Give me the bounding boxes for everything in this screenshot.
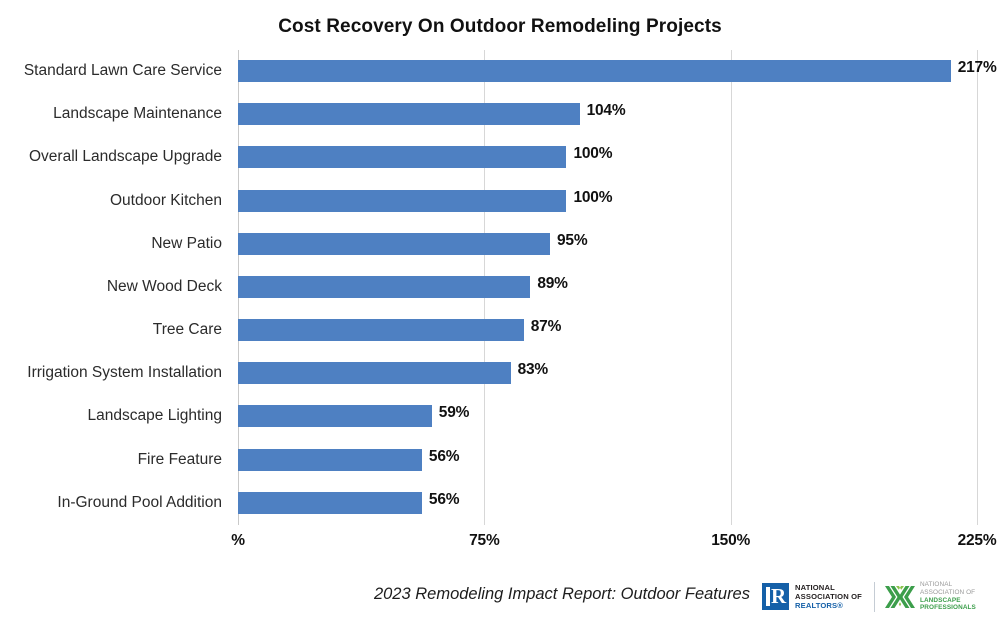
bar-value-label: 100% <box>573 145 612 163</box>
category-label: In-Ground Pool Addition <box>57 482 222 525</box>
x-tick-label: 75% <box>469 532 499 550</box>
nar-line-2: ASSOCIATION OF <box>795 592 862 601</box>
national-association-of-realtors-logo: R NATIONAL ASSOCIATION OF REALTORS® <box>762 583 862 611</box>
chart-title: Cost Recovery On Outdoor Remodeling Proj… <box>0 16 1000 38</box>
nalp-line-3: LANDSCAPE <box>920 597 976 605</box>
bar-value-label: 89% <box>537 275 567 293</box>
national-association-of-landscape-professionals-logo: NATIONAL ASSOCIATION OF LANDSCAPE PROFES… <box>885 581 976 612</box>
x-tick-label: 150% <box>711 532 750 550</box>
nalp-line-2: ASSOCIATION OF <box>920 589 976 597</box>
bar-row: 59% <box>238 395 977 438</box>
bar-value-label: 56% <box>429 448 459 466</box>
category-label: Fire Feature <box>138 439 222 482</box>
bar-value-label: 59% <box>439 404 469 422</box>
bar[interactable] <box>238 190 566 212</box>
bar[interactable] <box>238 233 550 255</box>
category-label: Landscape Maintenance <box>53 93 222 136</box>
bar-value-label: 95% <box>557 232 587 250</box>
nalp-line-1: NATIONAL <box>920 581 976 589</box>
bar-row: 56% <box>238 439 977 482</box>
bar-value-label: 83% <box>518 361 548 379</box>
logo-divider <box>874 582 875 612</box>
bar-value-label: 100% <box>573 189 612 207</box>
bar-row: 87% <box>238 309 977 352</box>
nalp-chevron-icon <box>885 584 915 610</box>
nar-line-3: REALTORS® <box>795 601 862 610</box>
realtor-bar-icon <box>766 587 770 606</box>
bar-value-label: 217% <box>958 59 997 77</box>
bar[interactable] <box>238 276 530 298</box>
category-label: Landscape Lighting <box>88 395 222 438</box>
gridline-225 <box>977 50 978 525</box>
x-axis-tick-labels: %75%150%225% <box>0 532 1000 556</box>
category-label: Tree Care <box>153 309 222 352</box>
x-tick-label: % <box>231 532 245 550</box>
category-label: Overall Landscape Upgrade <box>29 136 222 179</box>
bar[interactable] <box>238 449 422 471</box>
chart-footer: 2023 Remodeling Impact Report: Outdoor F… <box>0 575 1000 618</box>
bar-row: 217% <box>238 50 977 93</box>
bar-row: 100% <box>238 136 977 179</box>
logo-group: R NATIONAL ASSOCIATION OF REALTORS® <box>762 575 1000 618</box>
bar-value-label: 104% <box>587 102 626 120</box>
bar[interactable] <box>238 319 524 341</box>
bar-row: 56% <box>238 482 977 525</box>
bar[interactable] <box>238 405 432 427</box>
nalp-line-4: PROFESSIONALS <box>920 604 976 612</box>
bar-row: 100% <box>238 180 977 223</box>
category-label: New Patio <box>151 223 222 266</box>
bar[interactable] <box>238 60 951 82</box>
bar[interactable] <box>238 103 580 125</box>
footer-caption: 2023 Remodeling Impact Report: Outdoor F… <box>300 585 750 604</box>
realtor-r-icon: R <box>762 583 789 610</box>
bar-row: 104% <box>238 93 977 136</box>
x-tick-label: 225% <box>958 532 997 550</box>
bar[interactable] <box>238 146 566 168</box>
bar-row: 95% <box>238 223 977 266</box>
nalp-logo-text: NATIONAL ASSOCIATION OF LANDSCAPE PROFES… <box>920 581 976 612</box>
realtor-letter: R <box>771 585 786 608</box>
nar-logo-text: NATIONAL ASSOCIATION OF REALTORS® <box>795 583 862 611</box>
bar[interactable] <box>238 362 511 384</box>
bar-value-label: 87% <box>531 318 561 336</box>
plot-area: 217%104%100%100%95%89%87%83%59%56%56% <box>238 50 977 525</box>
category-label: Irrigation System Installation <box>27 352 222 395</box>
category-label: Standard Lawn Care Service <box>24 50 222 93</box>
bar-row: 89% <box>238 266 977 309</box>
bar-row: 83% <box>238 352 977 395</box>
category-label: Outdoor Kitchen <box>110 180 222 223</box>
category-label: New Wood Deck <box>107 266 222 309</box>
nar-line-1: NATIONAL <box>795 583 862 592</box>
bar[interactable] <box>238 492 422 514</box>
bar-value-label: 56% <box>429 491 459 509</box>
y-axis-category-labels: Standard Lawn Care ServiceLandscape Main… <box>0 50 230 525</box>
